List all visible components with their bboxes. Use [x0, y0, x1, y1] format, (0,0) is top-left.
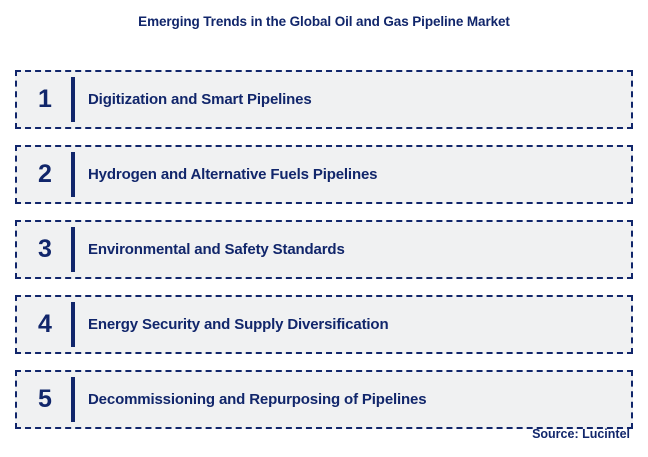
list-item[interactable]: 4 Energy Security and Supply Diversifica… — [15, 295, 633, 354]
trend-list: 1 Digitization and Smart Pipelines 2 Hyd… — [15, 70, 633, 429]
list-item[interactable]: 2 Hydrogen and Alternative Fuels Pipelin… — [15, 145, 633, 204]
infographic-canvas: Emerging Trends in the Global Oil and Ga… — [0, 0, 648, 457]
rank-number: 1 — [21, 87, 69, 112]
rank-number: 2 — [21, 162, 69, 187]
trend-label: Energy Security and Supply Diversificati… — [75, 316, 631, 333]
list-item[interactable]: 5 Decommissioning and Repurposing of Pip… — [15, 370, 633, 429]
rank-number: 4 — [21, 312, 69, 337]
rank-number: 5 — [21, 387, 69, 412]
trend-label: Hydrogen and Alternative Fuels Pipelines — [75, 166, 631, 183]
rank-number: 3 — [21, 237, 69, 262]
page-title: Emerging Trends in the Global Oil and Ga… — [0, 14, 648, 29]
list-item[interactable]: 1 Digitization and Smart Pipelines — [15, 70, 633, 129]
trend-label: Environmental and Safety Standards — [75, 241, 631, 258]
source-attribution: Source: Lucintel — [532, 427, 630, 441]
trend-label: Decommissioning and Repurposing of Pipel… — [75, 391, 631, 408]
trend-label: Digitization and Smart Pipelines — [75, 91, 631, 108]
list-item[interactable]: 3 Environmental and Safety Standards — [15, 220, 633, 279]
